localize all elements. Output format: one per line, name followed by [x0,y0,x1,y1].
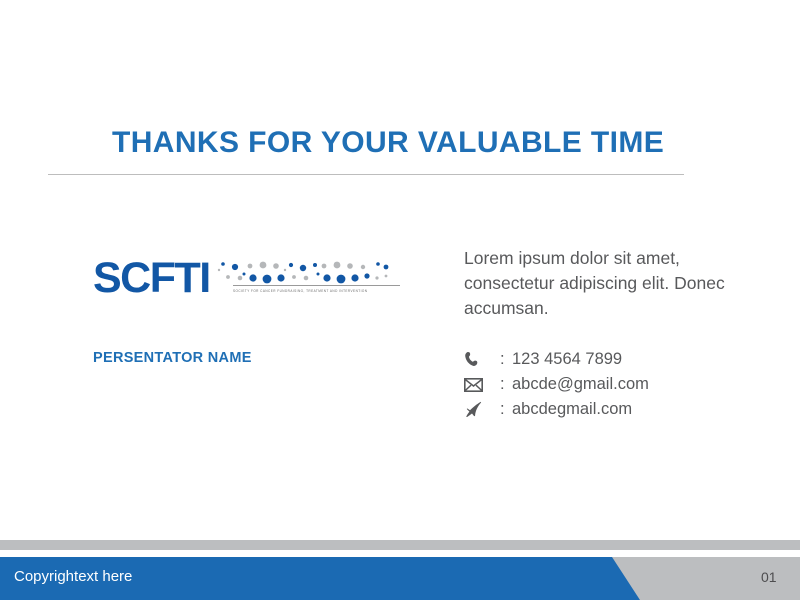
slide-canvas: THANKS FOR YOUR VALUABLE TIME SCFTI [0,0,800,600]
logo-tagline: SOCIETY FOR CANCER FUNDRAISING, TREATMEN… [233,288,401,293]
contact-row-website: : abcdegmail.com [464,397,764,422]
envelope-icon [464,378,490,392]
page-number: 01 [761,569,777,585]
presenter-name: PERSENTATOR NAME [93,350,252,366]
contact-phone-value: 123 4564 7899 [512,350,622,369]
title-divider [48,174,684,175]
logo-tagline-divider [233,285,400,286]
contact-list: : 123 4564 7899 : abcde@gmail.com : abcd [464,347,764,422]
paper-plane-icon [464,401,490,418]
contact-separator: : [490,375,512,394]
contact-separator: : [490,350,512,369]
logo: SCFTI [93,256,389,300]
body-paragraph: Lorem ipsum dolor sit amet, consectetur … [464,246,729,321]
footer-gap [0,550,800,557]
contact-separator: : [490,400,512,419]
phone-icon [464,351,490,368]
logo-wordmark: SCFTI [93,256,210,300]
contact-row-phone: : 123 4564 7899 [464,347,764,372]
contact-row-email: : abcde@gmail.com [464,372,764,397]
page-title: THANKS FOR YOUR VALUABLE TIME [112,126,664,160]
contact-website-value: abcdegmail.com [512,400,632,419]
footer-copyright: Copyrightext here [14,568,132,585]
logo-dot-pattern-icon [217,258,389,288]
contact-email-value: abcde@gmail.com [512,375,649,394]
